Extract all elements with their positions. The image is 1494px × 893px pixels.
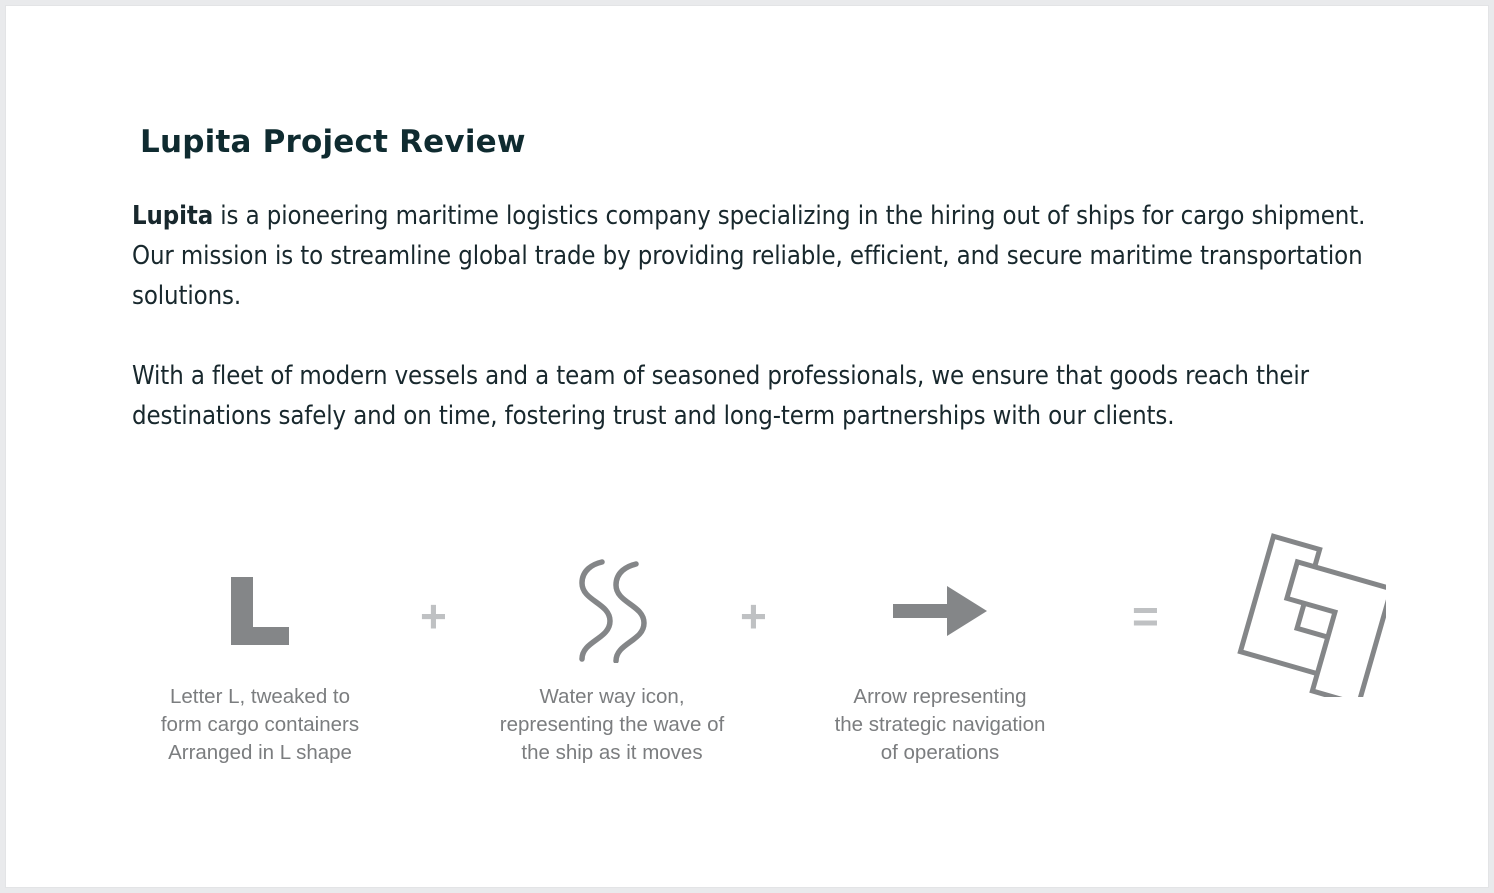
paragraph-2-rest: With a fleet of modern vessels and a tea… — [132, 361, 1309, 431]
formula-item-logo-mark — [1187, 531, 1417, 683]
paragraph-1-rest: is a pioneering maritime logistics compa… — [132, 201, 1365, 311]
block-letter-l-icon — [132, 531, 388, 691]
letter-l-foot — [231, 627, 289, 645]
formula-item-water-way: Water way icon, representing the wave of… — [462, 531, 762, 767]
page-title: Lupita Project Review — [140, 124, 526, 160]
paragraph-2: With a fleet of modern vessels and a tea… — [132, 356, 1380, 436]
plus-operator-2: + — [740, 593, 767, 639]
formula-caption-letter-l: Letter L, tweaked to form cargo containe… — [132, 683, 388, 767]
paragraph-1: Lupita is a pioneering maritime logistic… — [132, 196, 1380, 316]
equals-operator: = — [1132, 593, 1159, 639]
right-arrow-icon — [800, 531, 1080, 691]
logo-formula-row: Letter L, tweaked to form cargo containe… — [132, 531, 1380, 781]
body-copy: Lupita is a pioneering maritime logistic… — [132, 196, 1380, 436]
formula-item-letter-l: Letter L, tweaked to form cargo containe… — [132, 531, 388, 767]
water-way-wave-icon — [462, 531, 762, 691]
formula-item-arrow: Arrow representing the strategic navigat… — [800, 531, 1080, 767]
plus-operator-1: + — [420, 593, 447, 639]
slide-canvas: Lupita Project Review Lupita is a pionee… — [5, 5, 1489, 888]
formula-caption-arrow: Arrow representing the strategic navigat… — [800, 683, 1080, 767]
paragraph-1-lead: Lupita — [132, 201, 213, 231]
lupita-logo-mark-icon — [1187, 531, 1417, 691]
formula-caption-water-way: Water way icon, representing the wave of… — [462, 683, 762, 767]
